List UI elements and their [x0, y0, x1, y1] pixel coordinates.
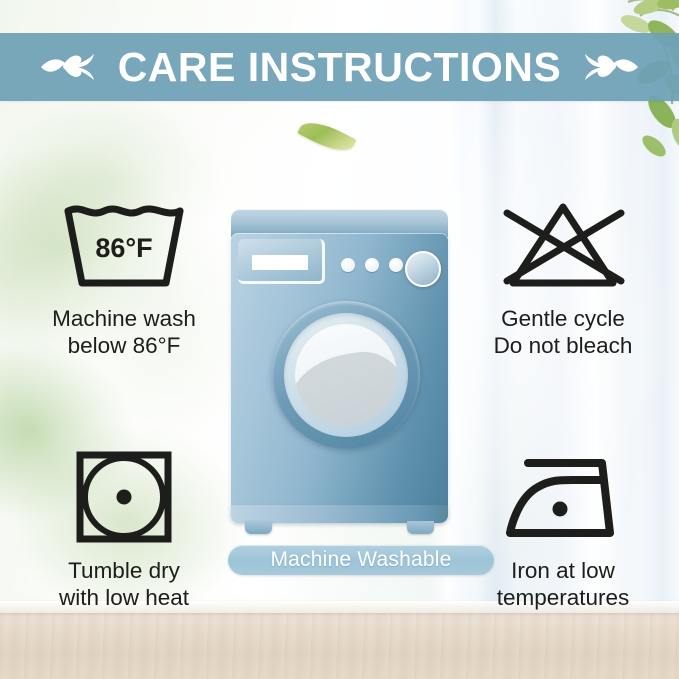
badge-label: Machine Washable	[270, 548, 451, 572]
machine-foot-left	[245, 521, 272, 534]
machine-body	[231, 233, 448, 521]
iron-icon	[452, 442, 674, 552]
control-button-1	[341, 258, 355, 272]
machine-door	[272, 301, 420, 449]
wash-tub-icon: 86°F	[14, 190, 234, 300]
control-button-3	[389, 258, 403, 272]
care-item-iron: Iron at low temperatures	[452, 442, 674, 611]
triangle-crossed-out-icon	[452, 190, 674, 300]
control-button-2	[365, 258, 379, 272]
detergent-drawer	[238, 239, 325, 284]
washing-machine-illustration	[231, 209, 448, 529]
fleur-de-lis-left-icon	[38, 44, 100, 90]
machine-door-glass	[295, 324, 397, 426]
wash-temp-value: 86°F	[95, 233, 152, 263]
care-item-gentle-cycle: Gentle cycle Do not bleach	[452, 190, 674, 359]
care-instructions-graphic: CARE INSTRUCTIONS	[0, 0, 679, 679]
care-caption: Gentle cycle Do not bleach	[452, 306, 674, 359]
care-caption: Machine wash below 86°F	[14, 306, 234, 359]
header-banner: CARE INSTRUCTIONS	[0, 33, 679, 101]
fleur-de-lis-right-icon	[579, 44, 641, 90]
care-item-machine-wash: 86°F Machine wash below 86°F	[14, 190, 234, 359]
machine-door-ring	[284, 313, 408, 437]
page-title: CARE INSTRUCTIONS	[118, 47, 562, 88]
drawer-slot	[252, 255, 308, 270]
care-caption: Tumble dry with low heat	[14, 558, 234, 611]
wooden-table	[0, 613, 679, 679]
control-dial	[405, 251, 441, 287]
machine-foot-right	[407, 521, 434, 534]
machine-door-reflection	[295, 346, 397, 426]
tumble-dry-square-circle-icon	[14, 442, 234, 552]
care-item-tumble-dry: Tumble dry with low heat	[14, 442, 234, 611]
care-caption: Iron at low temperatures	[452, 558, 674, 611]
